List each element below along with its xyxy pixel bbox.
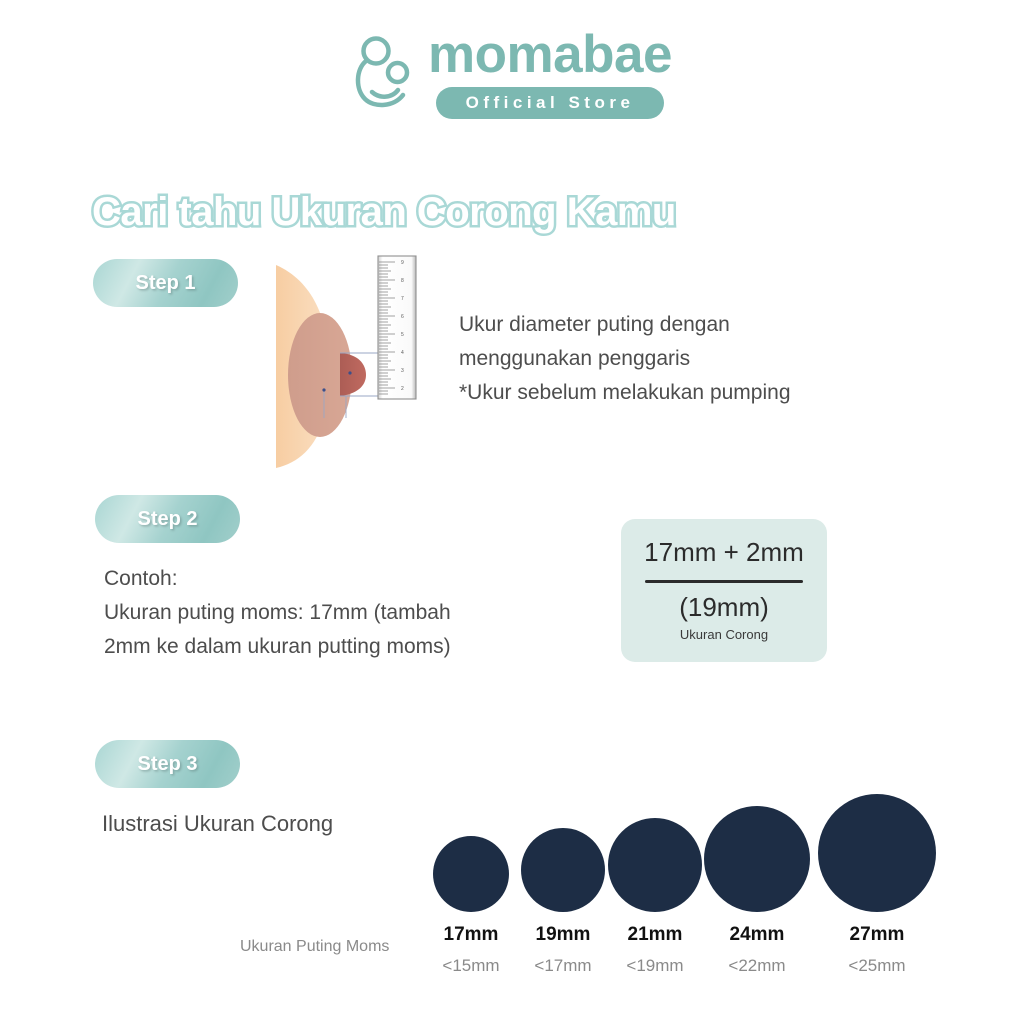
nipple-size-sublabel: <15mm	[442, 957, 499, 974]
step-2-badge: Step 2	[95, 495, 240, 543]
official-store-badge: Official Store	[436, 87, 665, 119]
flange-size-label: 24mm	[730, 925, 785, 944]
flange-circle-holder	[704, 802, 810, 912]
wordmark-block: momabae Official Store	[428, 28, 672, 119]
result-denominator: (19mm)	[679, 593, 769, 622]
flange-size-circle	[818, 794, 936, 912]
svg-text:7: 7	[401, 296, 404, 302]
nipple-size-sublabel: <22mm	[728, 957, 785, 974]
step-3-badge: Step 3	[95, 740, 240, 788]
flange-circle-holder	[608, 802, 702, 912]
svg-text:8: 8	[401, 278, 404, 284]
step-3-instructions: Ilustrasi Ukuran Corong	[102, 806, 333, 842]
svg-text:3: 3	[401, 368, 404, 374]
svg-text:4: 4	[401, 350, 404, 356]
page-title: Cari tahu Ukuran Corong Kamu	[92, 190, 676, 235]
svg-text:9: 9	[401, 260, 404, 266]
flange-size-result-card: 17mm + 2mm (19mm) Ukuran Corong	[621, 519, 827, 662]
flange-circle-holder	[521, 802, 605, 912]
step-1-badge: Step 1	[93, 259, 238, 307]
nipple-size-sublabel: <17mm	[534, 957, 591, 974]
svg-text:2: 2	[401, 386, 404, 392]
svg-text:5: 5	[401, 332, 404, 338]
flange-size-label: 21mm	[628, 925, 683, 944]
flange-size-chart: 17mm<15mm19mm<17mm21mm<19mm24mm<22mm27mm…	[425, 784, 945, 974]
flange-size-circle	[704, 806, 810, 912]
result-caption: Ukuran Corong	[680, 627, 768, 642]
flange-size-label: 27mm	[850, 925, 905, 944]
flange-size-item: 27mm<25mm	[831, 802, 923, 974]
flange-size-item: 17mm<15mm	[425, 802, 517, 974]
flange-size-circle	[521, 828, 605, 912]
brand-name: momabae	[428, 28, 672, 81]
result-divider	[645, 580, 803, 583]
flange-circle-holder	[818, 802, 936, 912]
infographic-page: momabae Official Store Cari tahu Ukuran …	[0, 0, 1024, 1024]
nipple-size-sublabel: <19mm	[626, 957, 683, 974]
step-2-instructions: Contoh: Ukuran puting moms: 17mm (tambah…	[104, 562, 451, 664]
flange-circle-holder	[433, 802, 509, 912]
nipple-size-sublabel: <25mm	[848, 957, 905, 974]
mother-and-baby-icon	[352, 35, 414, 113]
svg-text:6: 6	[401, 314, 404, 320]
flange-size-circle	[433, 836, 509, 912]
breast-with-ruler-illustration: 987 654 32	[262, 250, 432, 485]
flange-size-item: 21mm<19mm	[609, 802, 701, 974]
nipple-size-caption: Ukuran Puting Moms	[240, 938, 389, 956]
logo-row: momabae Official Store	[352, 28, 672, 119]
result-numerator: 17mm + 2mm	[644, 538, 804, 567]
flange-size-label: 19mm	[536, 925, 591, 944]
flange-size-label: 17mm	[444, 925, 499, 944]
flange-size-circle	[608, 818, 702, 912]
flange-size-item: 24mm<22mm	[711, 802, 803, 974]
step-1-instructions: Ukur diameter puting dengan menggunakan …	[459, 308, 791, 410]
flange-size-item: 19mm<17mm	[517, 802, 609, 974]
brand-header: momabae Official Store	[0, 28, 1024, 119]
